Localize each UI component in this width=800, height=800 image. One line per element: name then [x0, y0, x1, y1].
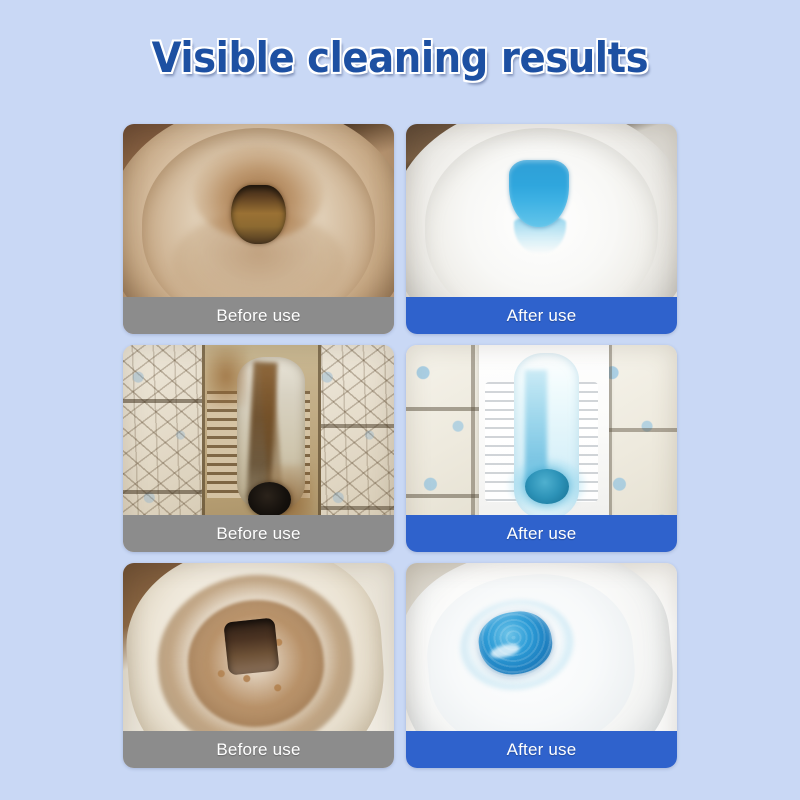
caption-after: After use: [406, 731, 677, 768]
caption-before: Before use: [123, 515, 394, 552]
comparison-card-after-3[interactable]: After use: [406, 563, 677, 768]
rust-patch: [204, 345, 247, 407]
promo-page: Visible cleaning results Before use: [0, 0, 800, 800]
blue-gel-shape: [525, 469, 568, 504]
comparison-card-before-3[interactable]: Before use: [123, 563, 394, 768]
comparison-card-before-1[interactable]: Before use: [123, 124, 394, 334]
caption-after: After use: [406, 515, 677, 552]
title-area: Visible cleaning results: [0, 34, 800, 82]
comparison-card-before-2[interactable]: Before use: [123, 345, 394, 552]
caption-after: After use: [406, 297, 677, 334]
comparison-grid: Before use After use: [123, 124, 677, 768]
comparison-card-after-2[interactable]: After use: [406, 345, 677, 552]
page-title: Visible cleaning results: [152, 34, 649, 82]
drain-hole-shape: [248, 482, 291, 517]
drain-hole-shape: [231, 185, 285, 244]
caption-before: Before use: [123, 297, 394, 334]
caption-before: Before use: [123, 731, 394, 768]
drain-hole-shape: [223, 618, 280, 676]
comparison-card-after-1[interactable]: After use: [406, 124, 677, 334]
